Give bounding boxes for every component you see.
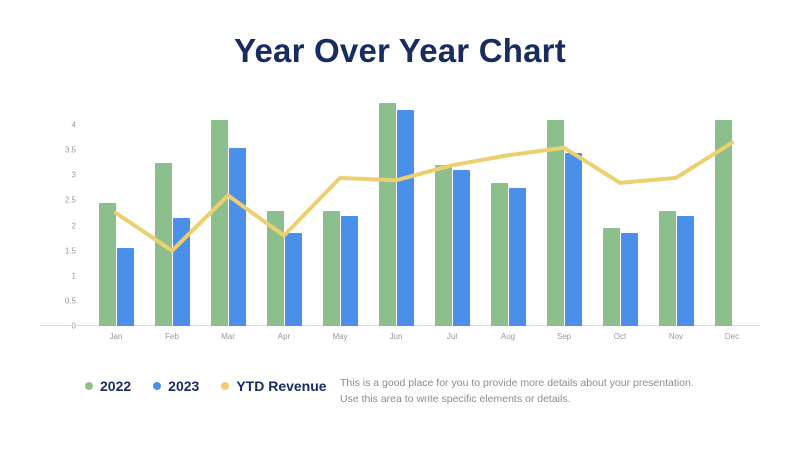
description-line-2: Use this area to write specific elements… bbox=[340, 391, 740, 407]
x-axis-tick-label: Aug bbox=[501, 332, 515, 341]
bar-2023-Apr[interactable] bbox=[285, 233, 302, 326]
x-axis-tick-label: Jul bbox=[447, 332, 457, 341]
bar-2023-Aug[interactable] bbox=[509, 188, 526, 326]
bar-2023-Jan[interactable] bbox=[117, 248, 134, 326]
x-axis-tick-label: Feb bbox=[165, 332, 179, 341]
bar-group bbox=[200, 100, 256, 326]
x-axis-tick-label: Oct bbox=[614, 332, 626, 341]
y-axis: 00.511.522.533.54 bbox=[40, 100, 82, 326]
page-title: Year Over Year Chart bbox=[0, 32, 800, 70]
bar-2023-Jun[interactable] bbox=[397, 110, 414, 326]
legend-item-2022[interactable]: 2022 bbox=[85, 378, 131, 394]
x-axis-tick-label: Mar bbox=[221, 332, 235, 341]
slide-canvas: Year Over Year Chart 00.511.522.533.54 J… bbox=[0, 0, 800, 450]
bar-group bbox=[592, 100, 648, 326]
bar-group bbox=[88, 100, 144, 326]
x-axis-tick-label: Jun bbox=[390, 332, 403, 341]
legend-item-2023[interactable]: 2023 bbox=[153, 378, 199, 394]
plot-area bbox=[88, 100, 760, 326]
x-axis-tick-label: Sep bbox=[557, 332, 571, 341]
bar-2022-Sep[interactable] bbox=[547, 120, 564, 326]
y-axis-tick-label: 0 bbox=[72, 322, 76, 331]
bar-2023-Nov[interactable] bbox=[677, 216, 694, 326]
bar-group bbox=[144, 100, 200, 326]
bar-group bbox=[480, 100, 536, 326]
y-axis-tick-label: 4 bbox=[72, 121, 76, 130]
y-axis-tick-label: 2 bbox=[72, 221, 76, 230]
legend-label: 2023 bbox=[168, 378, 199, 394]
y-axis-tick-label: 2.5 bbox=[65, 196, 76, 205]
bar-2022-Oct[interactable] bbox=[603, 228, 620, 326]
y-axis-tick-label: 3 bbox=[72, 171, 76, 180]
bar-2023-Sep[interactable] bbox=[565, 153, 582, 326]
year-over-year-chart: 00.511.522.533.54 JanFebMarAprMayJunJulA… bbox=[40, 100, 760, 350]
chart-legend: 20222023YTD Revenue bbox=[85, 378, 327, 394]
bar-2022-Dec[interactable] bbox=[715, 120, 732, 326]
bar-2022-Nov[interactable] bbox=[659, 211, 676, 327]
x-axis: JanFebMarAprMayJunJulAugSepOctNovDec bbox=[88, 332, 760, 350]
x-axis-tick-label: Dec bbox=[725, 332, 739, 341]
legend-dot-2022-icon bbox=[85, 382, 93, 390]
bar-2023-Jul[interactable] bbox=[453, 170, 470, 326]
x-axis-tick-label: Jan bbox=[110, 332, 123, 341]
legend-label: YTD Revenue bbox=[236, 378, 326, 394]
bar-group bbox=[256, 100, 312, 326]
bar-2022-Mar[interactable] bbox=[211, 120, 228, 326]
bar-2023-Feb[interactable] bbox=[173, 218, 190, 326]
bar-2022-Apr[interactable] bbox=[267, 211, 284, 327]
bar-2022-Feb[interactable] bbox=[155, 163, 172, 326]
bar-2023-May[interactable] bbox=[341, 216, 358, 326]
bar-group bbox=[368, 100, 424, 326]
bar-group bbox=[312, 100, 368, 326]
legend-label: 2022 bbox=[100, 378, 131, 394]
description-text: This is a good place for you to provide … bbox=[340, 375, 740, 408]
description-line-1: This is a good place for you to provide … bbox=[340, 375, 740, 391]
bar-2022-May[interactable] bbox=[323, 211, 340, 327]
x-axis-tick-label: Apr bbox=[278, 332, 290, 341]
legend-dot-ytd-revenue-icon bbox=[221, 382, 229, 390]
bar-2023-Mar[interactable] bbox=[229, 148, 246, 326]
bar-2023-Oct[interactable] bbox=[621, 233, 638, 326]
legend-item-ytd-revenue[interactable]: YTD Revenue bbox=[221, 378, 326, 394]
y-axis-tick-label: 0.5 bbox=[65, 296, 76, 305]
y-axis-tick-label: 3.5 bbox=[65, 146, 76, 155]
legend-dot-2023-icon bbox=[153, 382, 161, 390]
bar-2022-Jun[interactable] bbox=[379, 103, 396, 326]
bar-2022-Jan[interactable] bbox=[99, 203, 116, 326]
bar-group bbox=[536, 100, 592, 326]
bar-2022-Aug[interactable] bbox=[491, 183, 508, 326]
y-axis-tick-label: 1.5 bbox=[65, 246, 76, 255]
bar-group bbox=[648, 100, 704, 326]
x-axis-tick-label: May bbox=[332, 332, 347, 341]
y-axis-tick-label: 1 bbox=[72, 271, 76, 280]
x-axis-tick-label: Nov bbox=[669, 332, 683, 341]
bar-2022-Jul[interactable] bbox=[435, 165, 452, 326]
bar-group bbox=[424, 100, 480, 326]
bar-group bbox=[704, 100, 760, 326]
